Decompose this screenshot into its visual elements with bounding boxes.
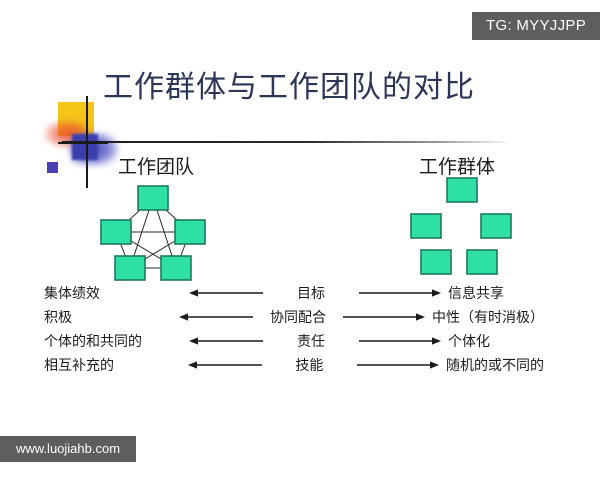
team-node-4 <box>115 256 145 280</box>
comparison-row: 个体的和共同的责任个体化 <box>44 329 544 353</box>
heading-work-group: 工作群体 <box>419 152 495 179</box>
arrow-left-icon <box>184 335 268 347</box>
comparison-group-value: 中性（有时消极） <box>430 307 544 327</box>
team-node-group <box>101 186 205 280</box>
page-title: 工作群体与工作团队的对比 <box>103 62 475 106</box>
arrow-left-icon <box>183 359 267 371</box>
logo-bullet-square <box>47 162 58 173</box>
tg-badge: TG: MYYJJPP <box>472 12 600 40</box>
comparison-team-value: 相互补充的 <box>44 355 183 375</box>
comparison-group-value: 信息共享 <box>446 283 544 303</box>
site-watermark: www.luojiahb.com <box>0 436 136 462</box>
arrow-right-icon <box>354 335 446 347</box>
group-node-3 <box>481 214 511 238</box>
presentation-slide: TG: MYYJJPP 工作群体与工作团队的对比 工作团队 工作群体 集体绩效目… <box>0 0 600 480</box>
team-node-3 <box>175 220 205 244</box>
diagram-work-team-network <box>98 186 208 282</box>
comparison-row: 积极协同配合中性（有时消极） <box>44 305 544 329</box>
team-node-5 <box>161 256 191 280</box>
arrow-right-icon <box>338 311 430 323</box>
arrow-right-icon <box>354 287 446 299</box>
comparison-team-value: 积极 <box>44 307 174 327</box>
team-node-2 <box>101 220 131 244</box>
group-node-1 <box>447 178 477 202</box>
group-node-group <box>411 178 511 274</box>
group-nodes-svg <box>410 180 510 280</box>
title-divider <box>62 141 512 143</box>
comparison-group-value: 随机的或不同的 <box>444 355 544 375</box>
comparison-dimension-label: 责任 <box>268 331 354 351</box>
comparison-dimension-label: 协同配合 <box>258 307 338 327</box>
comparison-team-value: 个体的和共同的 <box>44 331 184 351</box>
group-node-4 <box>421 250 451 274</box>
diagram-work-group-nodes <box>410 180 510 280</box>
arrow-left-icon <box>184 287 268 299</box>
comparison-row: 集体绩效目标信息共享 <box>44 281 544 305</box>
group-node-5 <box>467 250 497 274</box>
comparison-dimension-label: 目标 <box>268 283 354 303</box>
group-node-2 <box>411 214 441 238</box>
arrow-left-icon <box>174 311 258 323</box>
comparison-dimension-label: 技能 <box>267 355 352 375</box>
comparison-group-value: 个体化 <box>446 331 544 351</box>
heading-work-team: 工作团队 <box>118 152 194 179</box>
comparison-row: 相互补充的技能随机的或不同的 <box>44 353 544 377</box>
team-node-1 <box>138 186 168 210</box>
comparison-table: 集体绩效目标信息共享积极协同配合中性（有时消极）个体的和共同的责任个体化相互补充… <box>44 281 544 377</box>
arrow-right-icon <box>352 359 444 371</box>
logo-blue-square <box>72 134 98 160</box>
team-network-svg <box>98 186 208 282</box>
comparison-team-value: 集体绩效 <box>44 283 184 303</box>
